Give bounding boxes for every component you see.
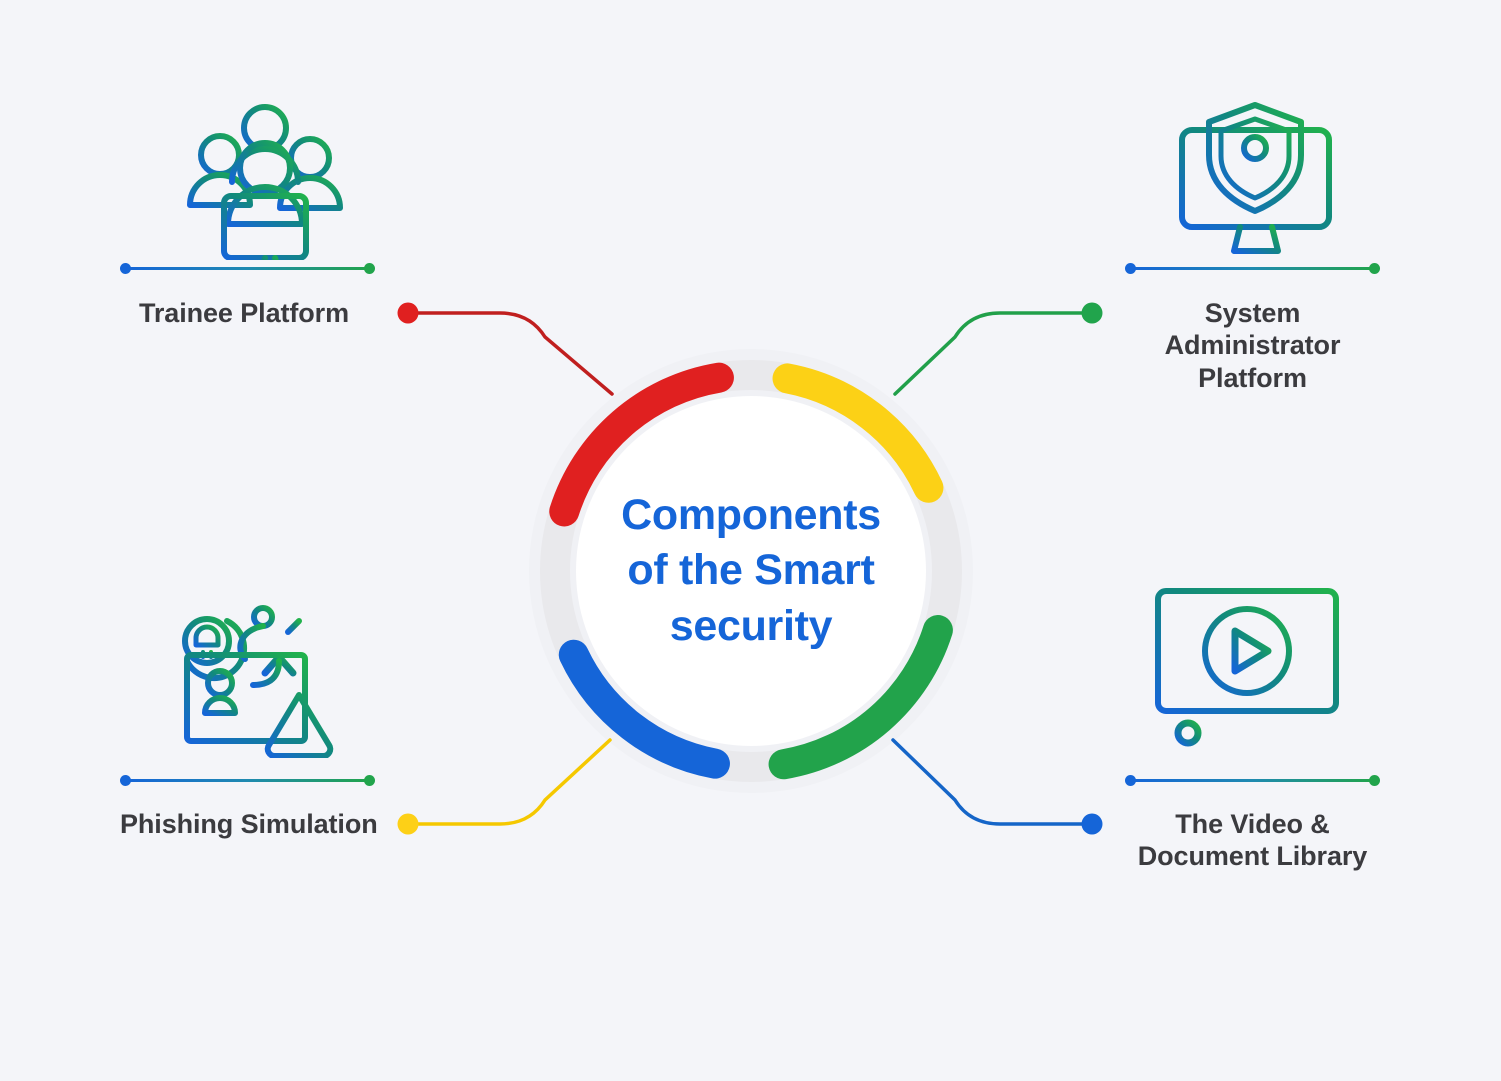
divider-system-administrator-platform bbox=[1125, 262, 1380, 276]
label-phishing-simulation: Phishing Simulation bbox=[120, 808, 450, 840]
node-system-administrator-platform bbox=[1082, 303, 1103, 324]
phishing-hook-idcard-warning-glyph bbox=[165, 583, 345, 758]
connector-the-video-document-library bbox=[893, 740, 1092, 824]
people-group-monitor-glyph bbox=[180, 100, 350, 260]
divider-bar bbox=[126, 779, 369, 782]
divider-dot-right bbox=[364, 263, 375, 274]
divider-the-video-document-library bbox=[1125, 774, 1380, 788]
divider-bar bbox=[126, 267, 369, 270]
infographic-canvas: Trainee Platform Syste bbox=[0, 0, 1501, 1081]
connector-system-administrator-platform bbox=[895, 313, 1092, 394]
phishing-hook-idcard-warning-icon bbox=[155, 585, 355, 755]
divider-bar bbox=[1131, 267, 1374, 270]
label-the-video-document-library: The Video & Document Library bbox=[1110, 808, 1395, 873]
video-player-play-slider-glyph bbox=[1150, 583, 1350, 748]
monitor-shield-lock-icon bbox=[1155, 95, 1355, 265]
divider-trainee-platform bbox=[120, 262, 375, 276]
divider-phishing-simulation bbox=[120, 774, 375, 788]
node-the-video-document-library bbox=[1082, 814, 1103, 835]
divider-dot-right bbox=[1369, 775, 1380, 786]
video-player-play-slider-icon bbox=[1150, 580, 1350, 750]
monitor-shield-lock-glyph bbox=[1168, 100, 1343, 260]
label-trainee-platform: Trainee Platform bbox=[139, 297, 439, 329]
divider-dot-right bbox=[364, 775, 375, 786]
label-system-administrator-platform: System Administrator Platform bbox=[1110, 297, 1395, 394]
people-group-monitor-icon bbox=[165, 95, 365, 265]
divider-bar bbox=[1131, 779, 1374, 782]
divider-dot-right bbox=[1369, 263, 1380, 274]
